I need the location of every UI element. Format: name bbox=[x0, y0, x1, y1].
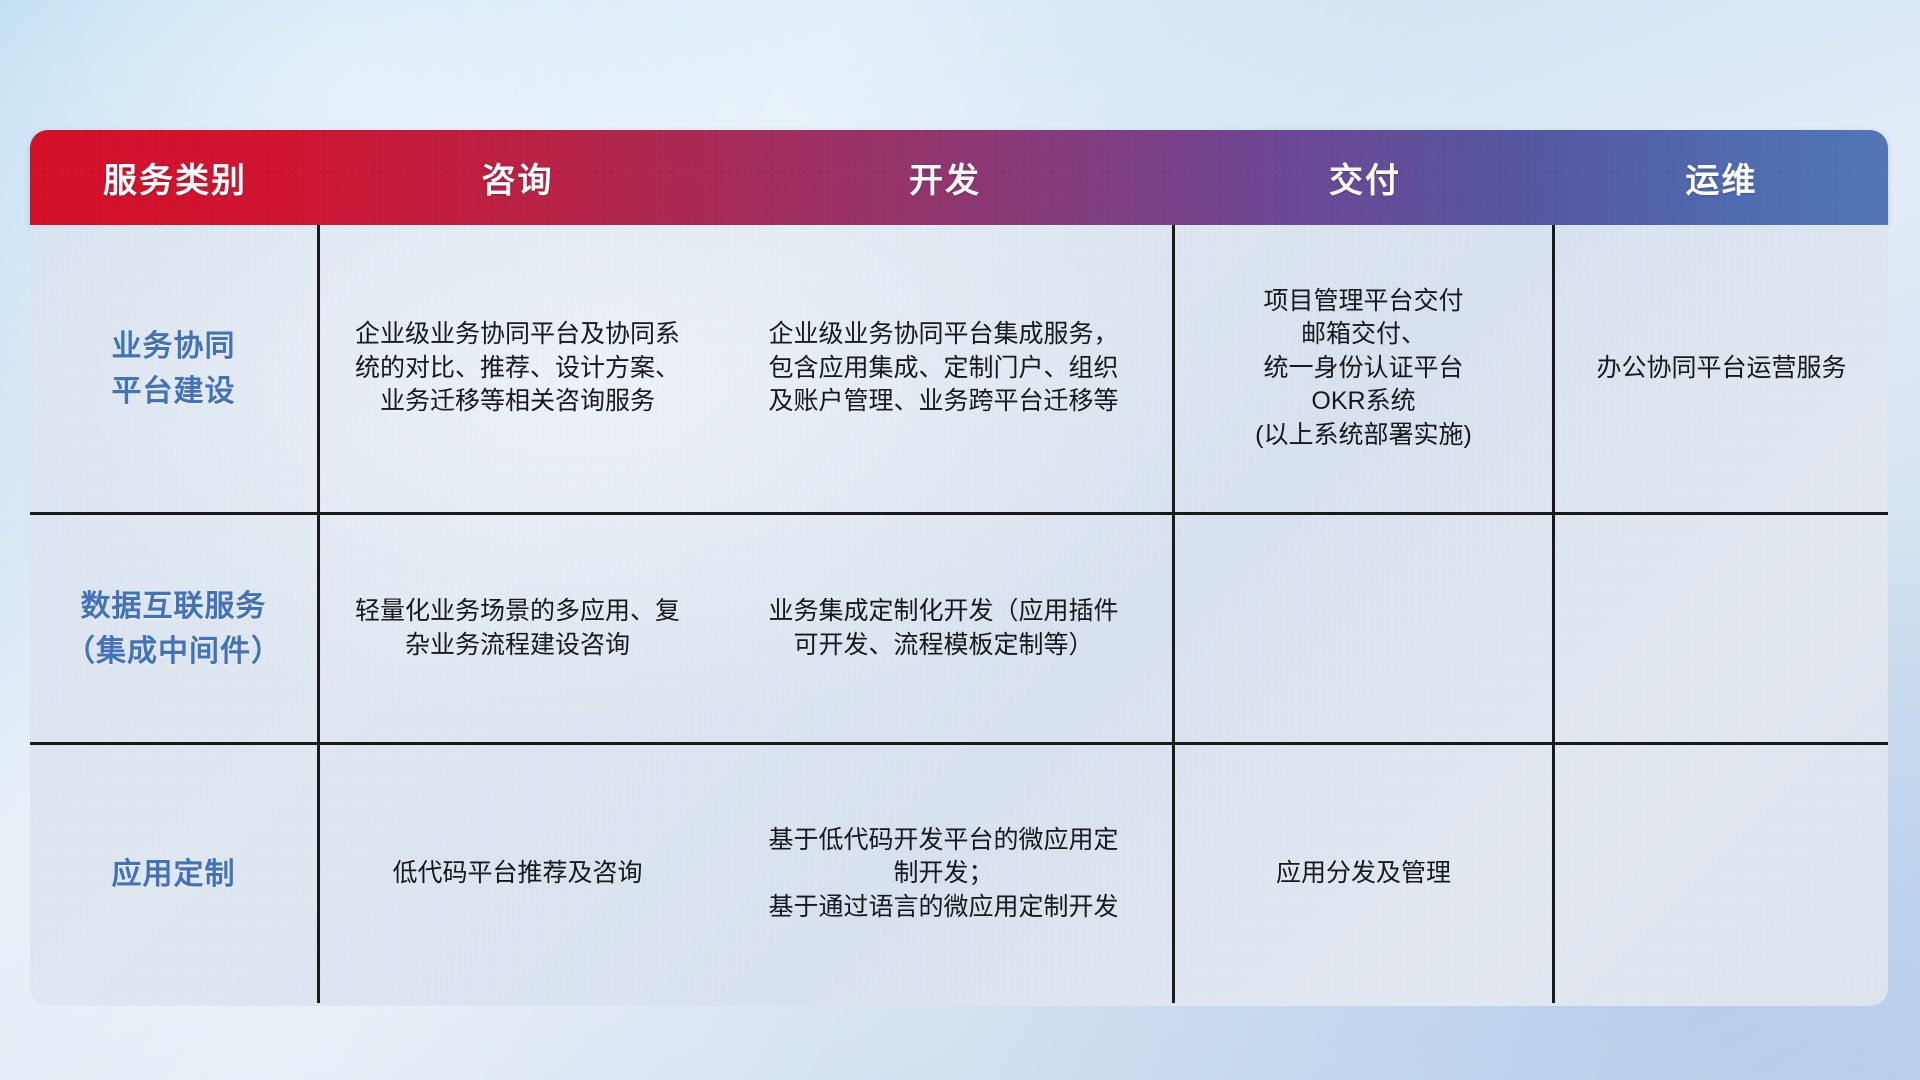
column-header-category: 服务类别 bbox=[30, 153, 320, 202]
category-label: 业务协同 平台建设 bbox=[112, 324, 236, 414]
cell-operations bbox=[1555, 515, 1888, 742]
column-header-delivery: 交付 bbox=[1175, 153, 1555, 202]
cell-development: 企业级业务协同平台集成服务， 包含应用集成、定制门户、组织 及账户管理、业务跨平… bbox=[715, 225, 1175, 512]
cell-delivery: 项目管理平台交付 邮箱交付、 统一身份认证平台 OKR系统 (以上系统部署实施) bbox=[1175, 225, 1555, 512]
cell-consulting: 轻量化业务场景的多应用、复 杂业务流程建设咨询 bbox=[320, 515, 715, 742]
table-row: 应用定制 低代码平台推荐及咨询 基于低代码开发平台的微应用定 制开发； 基于通过… bbox=[30, 745, 1888, 1003]
table-row: 数据互联服务 （集成中间件） 轻量化业务场景的多应用、复 杂业务流程建设咨询 业… bbox=[30, 515, 1888, 745]
cell-category: 业务协同 平台建设 bbox=[30, 225, 320, 512]
cell-operations bbox=[1555, 745, 1888, 1003]
category-label: 应用定制 bbox=[112, 852, 236, 897]
cell-delivery bbox=[1175, 515, 1555, 742]
cell-development: 基于低代码开发平台的微应用定 制开发； 基于通过语言的微应用定制开发 bbox=[715, 745, 1175, 1003]
service-category-table: 服务类别 咨询 开发 交付 运维 业务协同 平台建设 企业级业务协同平台及协同系… bbox=[30, 130, 1888, 1006]
column-header-operations: 运维 bbox=[1555, 153, 1888, 202]
cell-category: 应用定制 bbox=[30, 745, 320, 1003]
table-body: 业务协同 平台建设 企业级业务协同平台及协同系 统的对比、推荐、设计方案、 业务… bbox=[30, 225, 1888, 1006]
table-row: 业务协同 平台建设 企业级业务协同平台及协同系 统的对比、推荐、设计方案、 业务… bbox=[30, 225, 1888, 515]
column-header-development: 开发 bbox=[715, 153, 1175, 202]
cell-category: 数据互联服务 （集成中间件） bbox=[30, 515, 320, 742]
cell-consulting: 企业级业务协同平台及协同系 统的对比、推荐、设计方案、 业务迁移等相关咨询服务 bbox=[320, 225, 715, 512]
column-header-consulting: 咨询 bbox=[320, 153, 715, 202]
category-label: 数据互联服务 （集成中间件） bbox=[65, 584, 282, 674]
cell-operations: 办公协同平台运营服务 bbox=[1555, 225, 1888, 512]
cell-delivery: 应用分发及管理 bbox=[1175, 745, 1555, 1003]
table-header-row: 服务类别 咨询 开发 交付 运维 bbox=[30, 130, 1888, 225]
cell-consulting: 低代码平台推荐及咨询 bbox=[320, 745, 715, 1003]
cell-development: 业务集成定制化开发（应用插件 可开发、流程模板定制等） bbox=[715, 515, 1175, 742]
